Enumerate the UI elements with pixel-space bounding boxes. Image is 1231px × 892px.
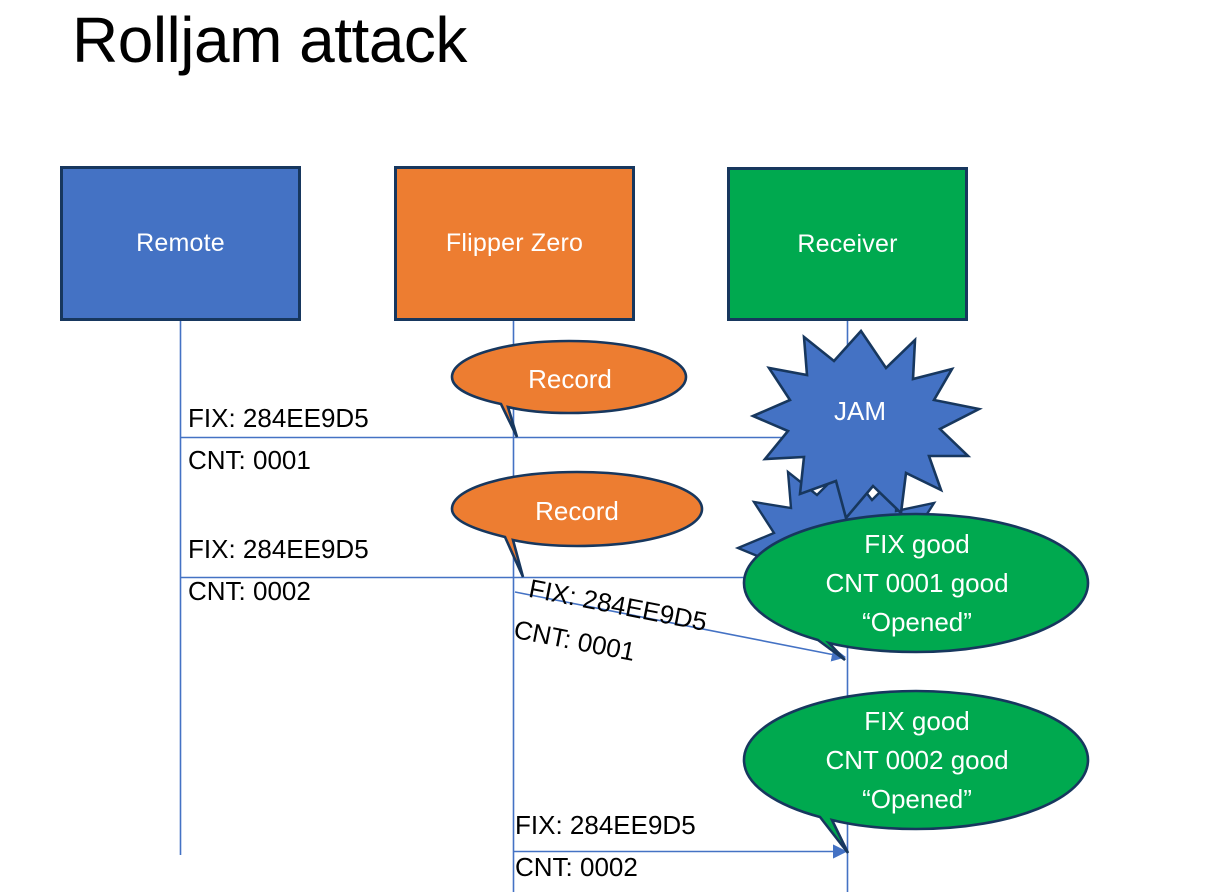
message-label-cnt-2: CNT: 0002 bbox=[188, 577, 311, 606]
message-label-fix-4: FIX: 284EE9D5 bbox=[515, 811, 696, 840]
callout-record-2 bbox=[452, 472, 702, 577]
actor-label-remote: Remote bbox=[136, 229, 225, 258]
actor-label-flipper: Flipper Zero bbox=[446, 229, 583, 258]
diagram-shapes-layer bbox=[0, 0, 1231, 892]
actor-box-remote[interactable]: Remote bbox=[60, 166, 301, 321]
slide-canvas: Rolljam attack bbox=[0, 0, 1231, 892]
message-label-cnt-1: CNT: 0001 bbox=[188, 446, 311, 475]
message-label-fix-1: FIX: 284EE9D5 bbox=[188, 404, 369, 433]
message-label-cnt-4: CNT: 0002 bbox=[515, 853, 638, 882]
callout-record-1 bbox=[452, 341, 686, 437]
actor-label-receiver: Receiver bbox=[797, 230, 897, 259]
message-label-fix-2: FIX: 284EE9D5 bbox=[188, 535, 369, 564]
actor-box-receiver[interactable]: Receiver bbox=[727, 167, 968, 321]
starburst-jam-1 bbox=[753, 331, 979, 518]
callout-opened-1 bbox=[744, 514, 1088, 660]
callout-opened-2 bbox=[744, 691, 1088, 853]
actor-box-flipper[interactable]: Flipper Zero bbox=[394, 166, 635, 321]
